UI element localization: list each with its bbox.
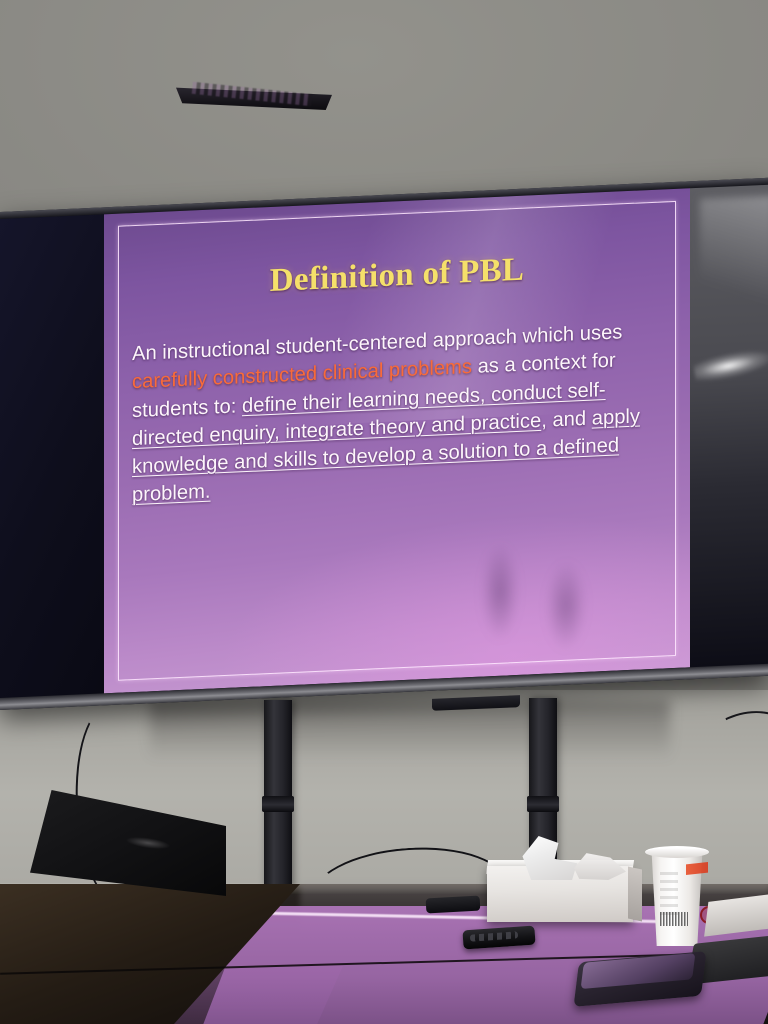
body-underline-integrate-theory: integrate theory and practice bbox=[285, 410, 541, 443]
wall-mounted-television[interactable]: Definition of PBL An instructional stude… bbox=[0, 178, 768, 710]
tv-pillarbox-left bbox=[0, 214, 104, 698]
stand-clamp bbox=[262, 796, 294, 812]
wall-shadow bbox=[150, 700, 670, 760]
tissue-box-side bbox=[628, 867, 642, 922]
body-underline-define-needs: define their learning needs bbox=[242, 384, 480, 417]
body-segment-7: , and bbox=[541, 407, 592, 431]
slide-content: Definition of PBL An instructional stude… bbox=[126, 209, 668, 672]
cup-rim bbox=[645, 846, 709, 858]
slide-body-text: An instructional student-centered approa… bbox=[126, 316, 668, 510]
presentation-slide[interactable]: Definition of PBL An instructional stude… bbox=[104, 188, 690, 693]
stand-clamp bbox=[527, 796, 559, 812]
secondary-remote[interactable] bbox=[426, 896, 481, 914]
slide-title: Definition of PBL bbox=[126, 245, 668, 306]
laptop[interactable] bbox=[30, 790, 260, 902]
cup-barcode bbox=[660, 912, 688, 926]
room-scene: Definition of PBL An instructional stude… bbox=[0, 0, 768, 1024]
